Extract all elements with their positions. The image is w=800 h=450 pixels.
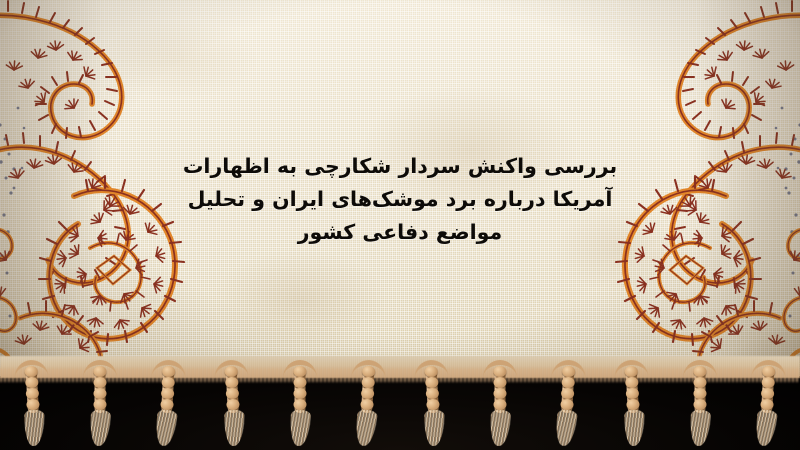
tassel (83, 360, 117, 450)
tassel-brush (353, 409, 377, 447)
tassel-brush (689, 409, 711, 446)
tassel-brush (89, 409, 111, 446)
tassel-knot (160, 388, 174, 400)
tassel (214, 359, 253, 450)
tassel-knot (362, 366, 376, 378)
tassel-knot (361, 377, 375, 389)
tassel (747, 359, 786, 450)
tassel-brush (24, 410, 45, 446)
tassel-brush (753, 409, 777, 447)
tassel-knot (494, 366, 507, 377)
tassel-brush (489, 409, 511, 446)
tassel-knot (294, 377, 307, 388)
tassel-knot (694, 377, 707, 388)
tassel (483, 360, 517, 450)
tassel-knot (560, 399, 574, 411)
tassel-knot (94, 399, 107, 410)
tassel-knot (494, 399, 507, 410)
tassel-knot (294, 399, 307, 410)
tassel-knot (694, 366, 707, 377)
tassel-knot (294, 366, 307, 377)
title-line-2: آمریکا درباره برد موشک‌های ایران و تحلیل (150, 183, 650, 216)
tassel-knot (94, 388, 107, 399)
title-line-1: بررسی واکنش سردار شکارچی به اظهارات (150, 150, 650, 183)
tassel-knot (360, 399, 374, 411)
tassel-knot (694, 399, 707, 410)
tassel-knot (761, 377, 775, 389)
tassel-knot (562, 366, 576, 378)
page-title: بررسی واکنش سردار شکارچی به اظهارات آمری… (150, 150, 650, 249)
tassel (547, 359, 586, 450)
tassel-knot (760, 388, 774, 400)
tassel-brush (153, 409, 177, 447)
tassel-knot (762, 366, 776, 378)
tassel (614, 359, 653, 450)
tassel (347, 359, 386, 450)
tassel-knot (294, 388, 307, 399)
tassel-knot (162, 366, 176, 378)
tassel-knot (560, 388, 574, 400)
tassel-brush (624, 410, 645, 446)
tassel (414, 359, 453, 450)
tassel (683, 360, 717, 450)
tassel-knot (360, 388, 374, 400)
title-line-3: مواضع دفاعی کشور (150, 216, 650, 249)
tassel-knot (94, 377, 107, 388)
tassel-knot (760, 399, 774, 411)
textile-banner-image: بررسی واکنش سردار شکارچی به اظهارات آمری… (0, 0, 800, 450)
tassel-knot (494, 377, 507, 388)
tassel-knot (694, 388, 707, 399)
tassel (147, 359, 186, 450)
tassel-brush (553, 409, 577, 447)
knotted-tassel-fringe (0, 360, 800, 450)
tassel-brush (424, 410, 445, 446)
tassel (14, 359, 53, 450)
tassel-knot (494, 388, 507, 399)
tassel-brush (224, 410, 245, 446)
tassel-brush (289, 409, 311, 446)
tassel-knot (94, 366, 107, 377)
tassel-knot (161, 377, 175, 389)
tassel-knot (561, 377, 575, 389)
tassel (283, 360, 317, 450)
tassel-knot (160, 399, 174, 411)
